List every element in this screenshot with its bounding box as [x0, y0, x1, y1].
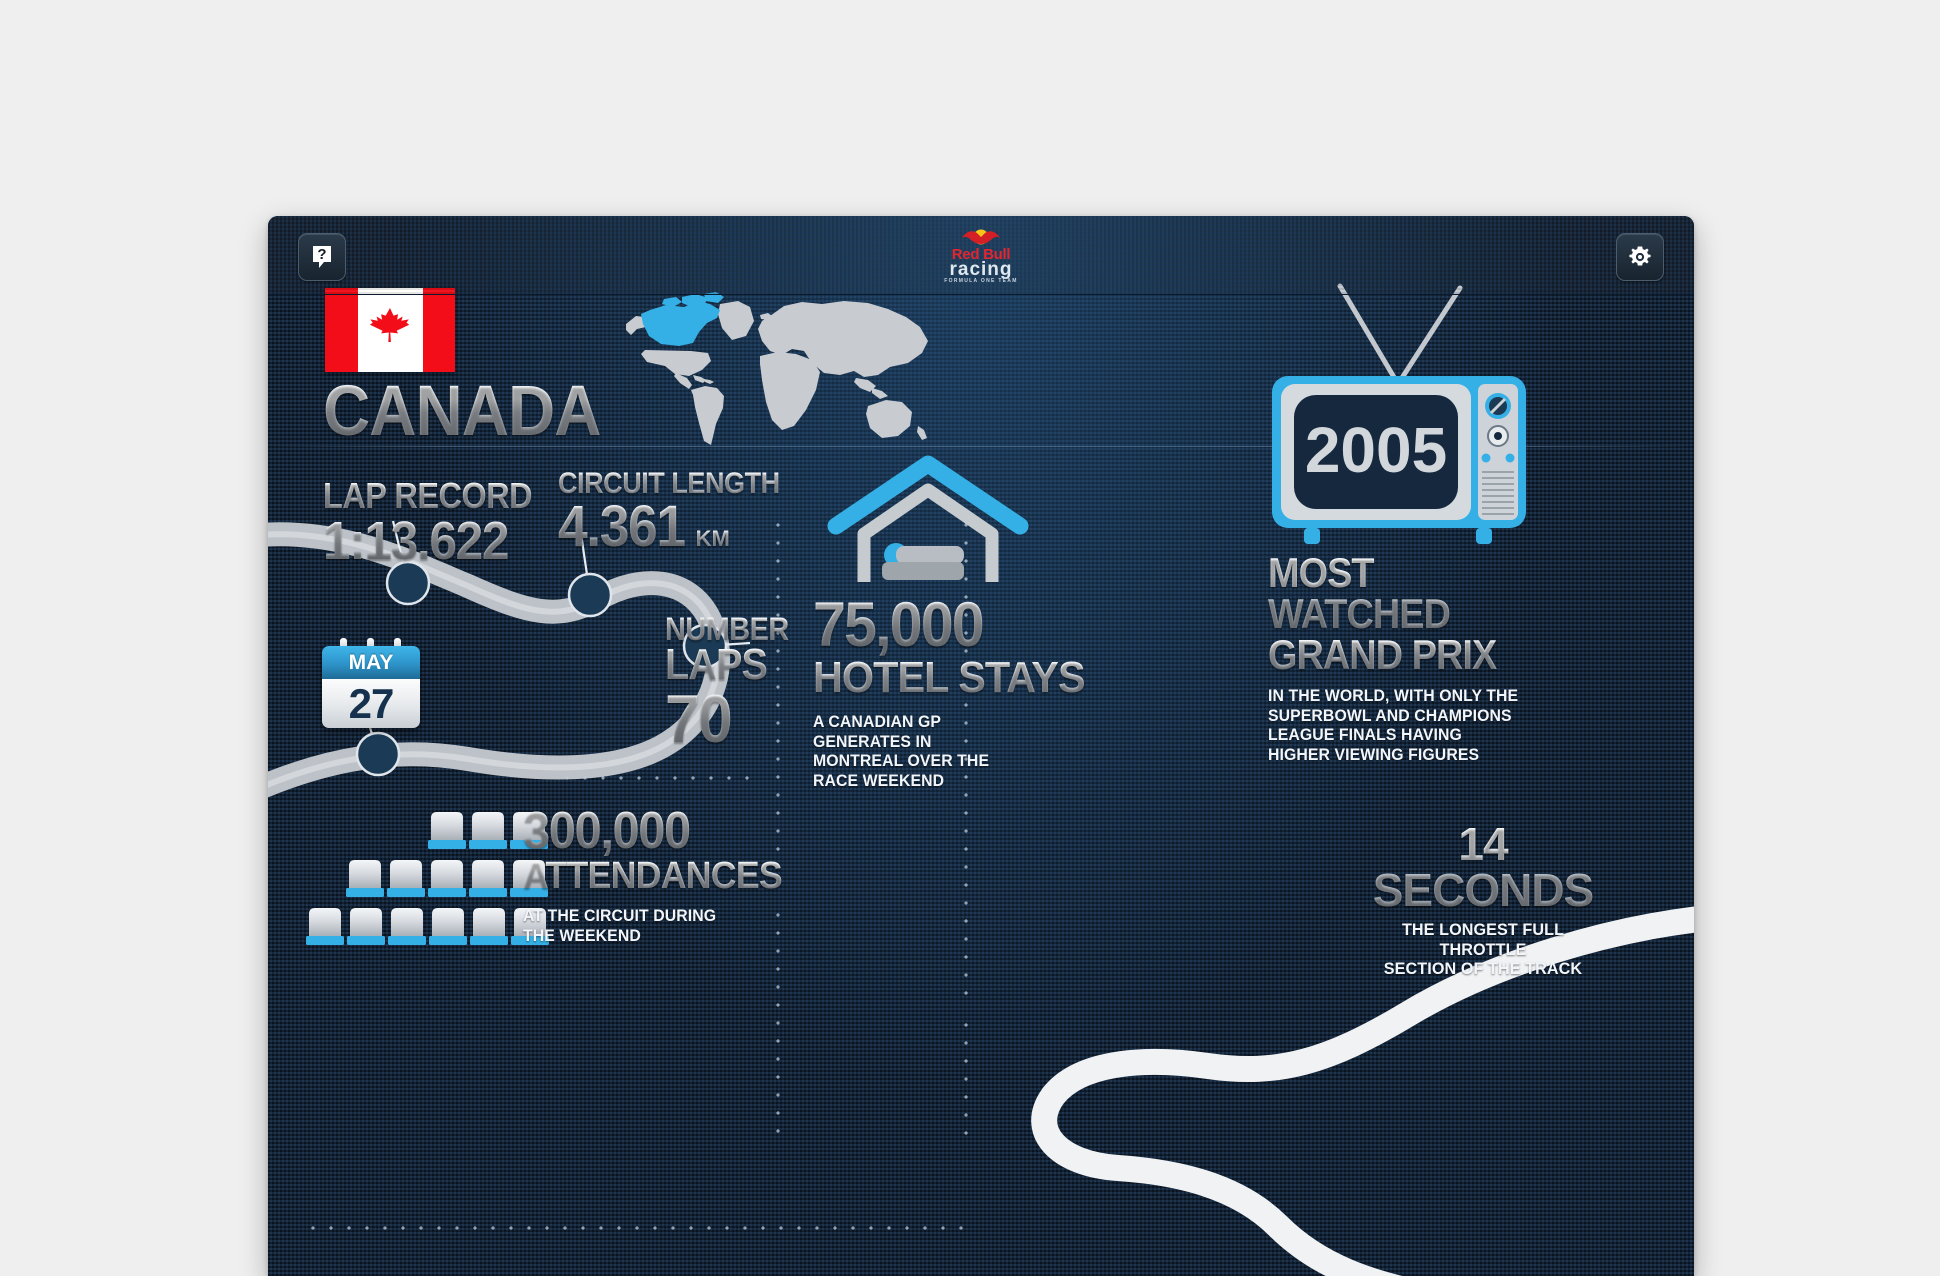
stat-attendances: 300,000 ATTENDANCES AT THE CIRCUIT DURIN… [523, 806, 799, 945]
help-question-icon: ? [311, 245, 333, 269]
stat-number-laps: NUMBER LAPS 70 [665, 614, 802, 752]
stat-hotel-stays: 75,000 HOTEL STAYS A CANADIAN GP GENERAT… [813, 594, 1102, 790]
divider-horizontal-laps [558, 776, 763, 780]
race-date-calendar: MAY 27 [322, 646, 420, 728]
red-bull-bulls-icon [906, 226, 1056, 248]
hotel-bed-icon [828, 460, 1028, 590]
canada-flag [325, 288, 455, 372]
stadium-seats-icon [318, 810, 543, 950]
attendances-value: 300,000 [523, 806, 782, 857]
logo-racing-text: racing [906, 261, 1056, 278]
retro-tv-icon: 2005 [1248, 276, 1548, 556]
gear-icon [1628, 245, 1652, 269]
stat-full-throttle: 14 SECONDS THE LONGEST FULL THROTTLE SEC… [1358, 821, 1608, 979]
most-watched-title-line2: GRAND PRIX [1268, 634, 1520, 675]
logo-subtitle-text: FORMULA ONE TEAM [906, 278, 1056, 285]
maple-leaf-icon [366, 306, 414, 354]
number-laps-value: 70 [665, 686, 791, 752]
full-throttle-description-line1: THE LONGEST FULL THROTTLE [1364, 920, 1602, 959]
svg-text:?: ? [317, 246, 326, 263]
flag-left-band [325, 288, 358, 372]
red-bull-racing-logo: Red Bull racing FORMULA ONE TEAM [906, 226, 1056, 286]
number-laps-label-line2: LAPS [665, 644, 789, 686]
divider-horizontal-bottom [304, 1226, 964, 1230]
calendar-body: 27 [322, 679, 420, 728]
hotel-stays-title: HOTEL STAYS [813, 656, 1085, 700]
full-throttle-description-line2: SECTION OF THE TRACK [1364, 959, 1602, 979]
world-map-canada-highlighted [620, 280, 940, 448]
infographic-window: ? Red Bull racing FORMULA ONE TEAM CANAD… [268, 216, 1694, 1276]
stat-circuit-length: CIRCUIT LENGTH 4.361KM [558, 468, 804, 554]
page-title: CANADA [323, 376, 601, 447]
circuit-length-value: 4.361 [558, 500, 685, 554]
attendances-title: ATTENDANCES [523, 857, 782, 895]
calendar-header: MAY [322, 646, 420, 679]
most-watched-year: 2005 [1305, 414, 1447, 486]
lap-record-label: LAP RECORD [323, 478, 532, 514]
stat-lap-record: LAP RECORD 1:13.622 [323, 478, 555, 568]
circuit-length-unit: KM [696, 526, 730, 552]
settings-button[interactable] [1616, 233, 1664, 281]
stat-most-watched: MOST WATCHED GRAND PRIX IN THE WORLD, WI… [1268, 552, 1548, 764]
attendances-description: AT THE CIRCUIT DURING THE WEEKEND [523, 906, 723, 945]
hotel-stays-value: 75,000 [813, 594, 1085, 656]
flag-right-band [423, 288, 456, 372]
divider-vertical-mid-lower [964, 1016, 968, 1136]
canada-highlight [641, 292, 724, 346]
calendar-month: MAY [349, 651, 394, 675]
most-watched-title-line1: MOST WATCHED [1268, 552, 1520, 634]
help-button[interactable]: ? [298, 233, 346, 281]
hotel-stays-description: A CANADIAN GP GENERATES IN MONTREAL OVER… [813, 712, 1013, 790]
most-watched-description: IN THE WORLD, WITH ONLY THE SUPERBOWL AN… [1268, 686, 1528, 764]
calendar-day: 27 [349, 683, 394, 725]
full-throttle-value: 14 SECONDS [1358, 821, 1608, 913]
lap-record-value: 1:13.622 [323, 514, 537, 568]
